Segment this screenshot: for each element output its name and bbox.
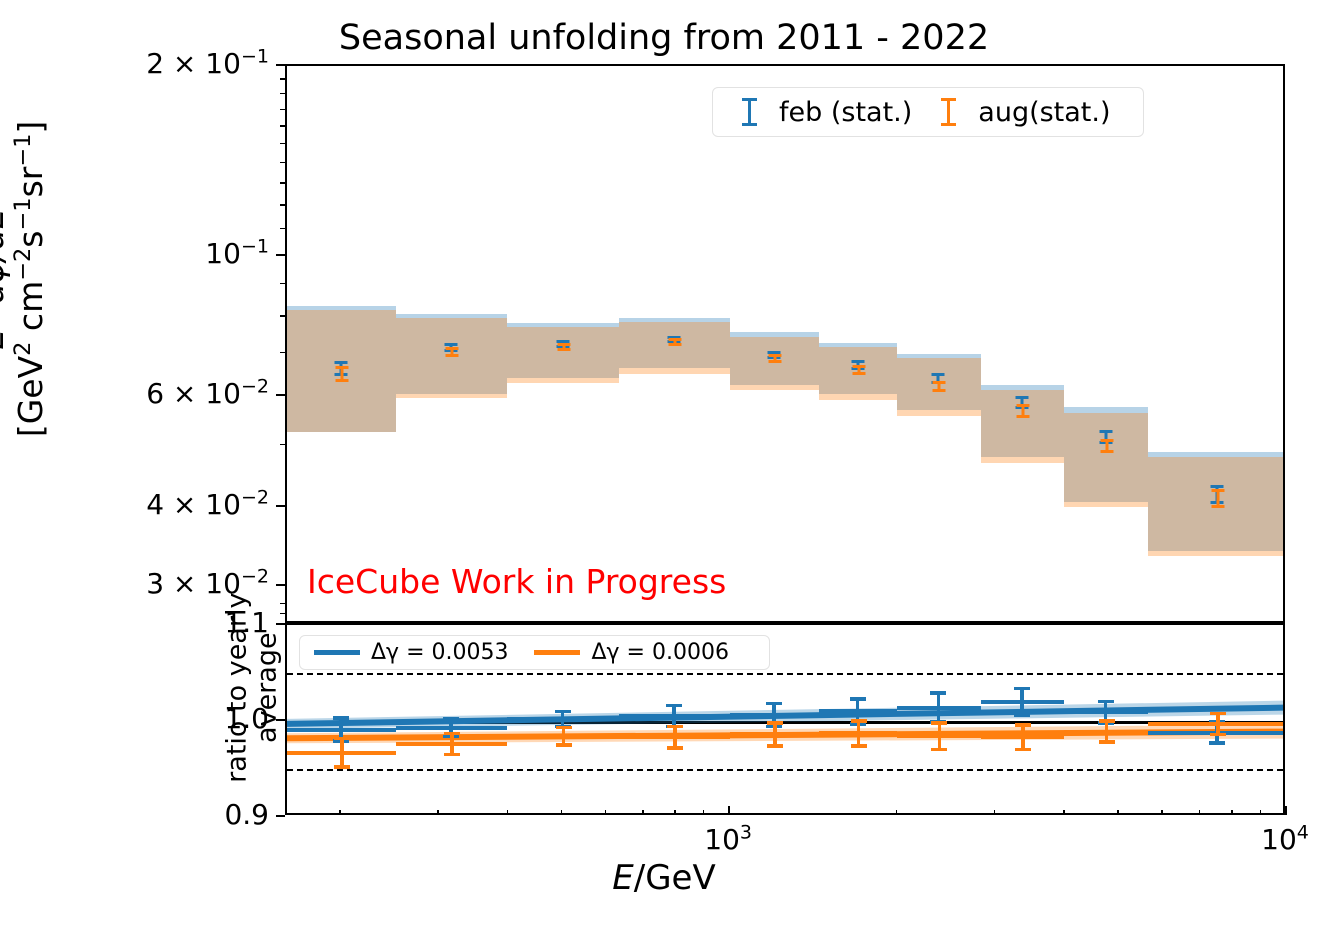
ratio-error-cap (767, 744, 783, 747)
ratio-error-cap (334, 737, 350, 740)
error-bar-point (767, 354, 783, 363)
ratio-error-cap (1015, 748, 1031, 751)
y-tick-minor (280, 162, 286, 164)
ratio-error-cap (931, 748, 947, 751)
y-tick-minor (280, 93, 286, 95)
y-tick-minor (280, 283, 286, 285)
ratio-error-bar (673, 727, 676, 748)
ratio-error-bar (1020, 688, 1023, 715)
y-tick-minor (280, 78, 286, 80)
ratio-error-bar (1105, 721, 1108, 742)
x-tick-minor (561, 810, 563, 816)
uncertainty-band (507, 327, 618, 384)
x-tick-minor (703, 810, 705, 816)
spectrum-axes: feb (stat.) aug(stat.) IceCube Work in P… (285, 64, 1285, 623)
y-tick-minor (280, 315, 286, 317)
legend-item-dgamma-aug: Δγ = 0.0006 (534, 640, 754, 665)
icecube-watermark: IceCube Work in Progress (307, 562, 726, 601)
legend-item-feb: feb (stat.) (729, 95, 928, 129)
error-bar-point (931, 381, 947, 392)
ratio-error-bar (1216, 713, 1219, 734)
error-bar-point (556, 343, 572, 351)
x-tick-minor (339, 810, 341, 816)
ratio-error-cap (1210, 712, 1226, 715)
error-bar-point (334, 366, 350, 382)
ratio-error-cap (1014, 687, 1030, 690)
ratio-error-cap (766, 702, 782, 705)
y-tick-major (276, 394, 285, 396)
x-tick-minor (1231, 810, 1233, 816)
x-tick-label: 104 (1225, 823, 1328, 856)
legend-label-aug: aug(stat.) (968, 97, 1126, 128)
x-tick-label: 103 (668, 823, 788, 856)
ratio-error-cap (667, 725, 683, 728)
ratio-error-cap (334, 765, 350, 768)
x-tick-minor (1117, 810, 1119, 816)
figure-canvas: Seasonal unfolding from 2011 - 2022 feb … (0, 0, 1328, 934)
ratio-error-cap (443, 717, 459, 720)
x-tick-minor (437, 810, 439, 816)
legend-label-dgamma-feb: Δγ = 0.0053 (371, 640, 534, 665)
x-tick-major (728, 806, 730, 815)
ratio-error-cap (556, 743, 572, 746)
ratio-error-cap (1099, 740, 1115, 743)
ratio-error-cap (930, 691, 946, 694)
error-bar-point (1210, 489, 1226, 508)
ratio-error-cap (931, 721, 947, 724)
uncertainty-band (619, 322, 730, 374)
error-bar-point (444, 347, 460, 357)
ratio-error-cap (850, 697, 866, 700)
y-tick-minor (280, 228, 286, 230)
ratio-axes: Δγ = 0.0053 Δγ = 0.0006 (285, 623, 1285, 815)
ratio-error-bar (938, 723, 941, 750)
errorbar-icon-feb (729, 95, 769, 129)
line-swatch-orange (534, 650, 580, 655)
y-axis-label-bottom: ratio to yearly average (222, 558, 281, 818)
x-tick-minor (994, 810, 996, 816)
ratio-error-cap (1015, 723, 1031, 726)
ratio-error-cap (1014, 714, 1030, 717)
error-bar-point (1015, 404, 1031, 418)
ratio-error-cap (444, 753, 460, 756)
ratio-error-cap (1210, 733, 1226, 736)
y-tick-minor (280, 125, 286, 127)
y-tick-minor (280, 204, 286, 206)
x-tick-minor (1063, 810, 1065, 816)
ratio-error-cap (555, 710, 571, 713)
y-axis-label-top: E3 dϕ/dE [GeV2 cm−2s−1sr−1] (0, 0, 51, 559)
error-bar-point (1099, 439, 1115, 453)
y-tick-minor (280, 143, 286, 145)
x-tick-minor (605, 810, 607, 816)
uncertainty-band (1064, 413, 1148, 507)
x-tick-major (1285, 806, 1287, 815)
ratio-error-cap (851, 719, 867, 722)
x-tick-minor (896, 810, 898, 816)
y-tick-major (276, 505, 285, 507)
ratio-error-bar (672, 706, 675, 727)
x-tick-minor (1161, 810, 1163, 816)
ratio-error-bar (340, 738, 343, 767)
errorbar-icon-aug (928, 95, 968, 129)
x-axis-label: E/GeV (0, 858, 1328, 898)
uncertainty-band (730, 337, 819, 391)
ratio-error-cap (1099, 719, 1115, 722)
uncertainty-band (396, 318, 507, 398)
legend-top[interactable]: feb (stat.) aug(stat.) (712, 87, 1144, 137)
ratio-error-cap (851, 744, 867, 747)
error-bar-point (851, 365, 867, 375)
ratio-error-bar (450, 733, 453, 754)
y-tick-minor (280, 109, 286, 111)
ratio-error-cap (1209, 741, 1225, 744)
x-tick-minor (507, 810, 509, 816)
legend-label-dgamma-aug: Δγ = 0.0006 (591, 640, 754, 665)
x-tick-minor (1260, 810, 1262, 816)
y-tick-minor (280, 352, 286, 354)
x-tick-minor (674, 810, 676, 816)
y-tick-major (276, 254, 285, 256)
ratio-error-cap (666, 704, 682, 707)
ratio-error-cap (767, 721, 783, 724)
y-axis-label-bottom-wrapper: ratio to yearly average (222, 640, 282, 810)
ratio-error-bar (937, 693, 940, 722)
ratio-error-bar (857, 721, 860, 746)
ratio-error-bar (773, 723, 776, 746)
x-tick-minor (642, 810, 644, 816)
legend-item-aug: aug(stat.) (928, 95, 1126, 129)
y-tick-major (276, 64, 285, 66)
ratio-error-bar (1021, 725, 1024, 750)
ratio-error-cap (556, 726, 572, 729)
legend-item-dgamma-feb: Δγ = 0.0053 (314, 640, 534, 665)
legend-bottom[interactable]: Δγ = 0.0053 Δγ = 0.0006 (299, 635, 770, 670)
error-bar-point (667, 338, 683, 346)
ratio-error-cap (444, 732, 460, 735)
ratio-error-cap (667, 746, 683, 749)
ratio-error-cap (1098, 700, 1114, 703)
ratio-error-cap (333, 716, 349, 719)
line-swatch-blue (314, 650, 360, 655)
x-tick-minor (1199, 810, 1201, 816)
legend-label-feb: feb (stat.) (769, 97, 928, 128)
y-tick-minor (280, 444, 286, 446)
y-tick-minor (280, 182, 286, 184)
